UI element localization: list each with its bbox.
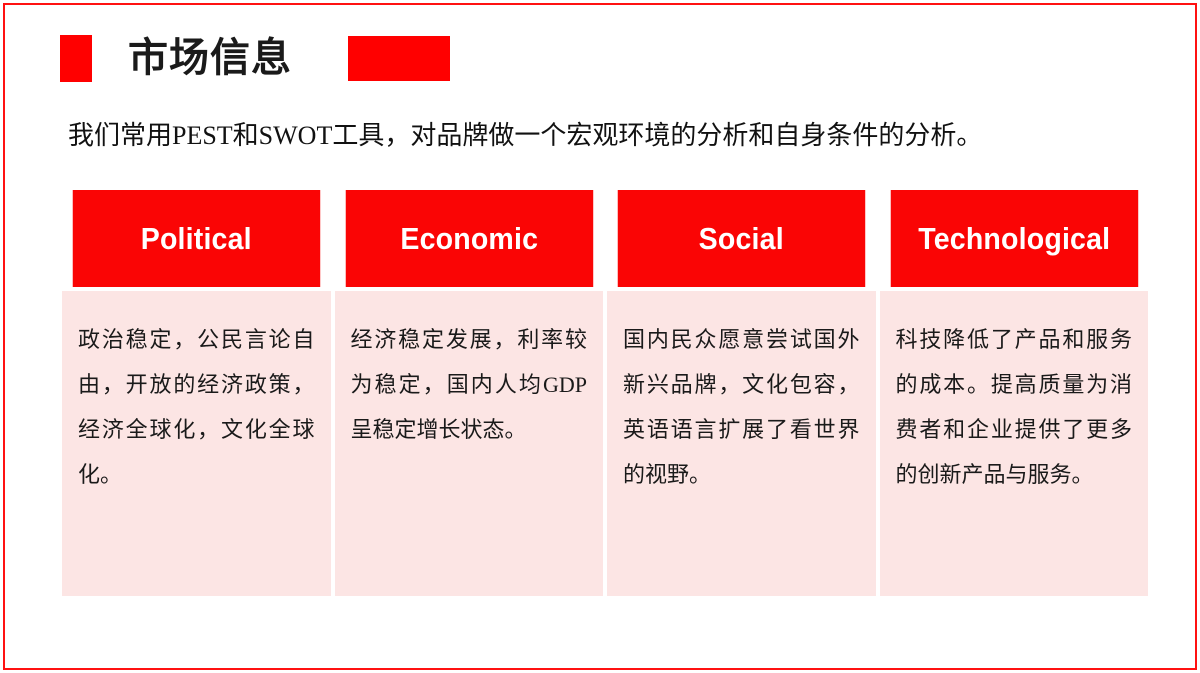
table-header-political: Political (73, 190, 320, 287)
table-cell-technological: 科技降低了产品和服务的成本。提高质量为消费者和企业提供了更多的创新产品与服务。 (880, 291, 1149, 596)
table-cell-social: 国内民众愿意尝试国外新兴品牌，文化包容，英语语言扩展了看世界的视野。 (607, 291, 876, 596)
page-title: 市场信息 (128, 38, 292, 78)
table-header-technological: Technological (890, 190, 1137, 287)
subtitle-text: 我们常用PEST和SWOT工具，对品牌做一个宏观环境的分析和自身条件的分析。 (68, 118, 1158, 153)
header-accent-block-icon (348, 36, 450, 81)
table-cell-political: 政治稳定，公民言论自由，开放的经济政策，经济全球化，文化全球化。 (62, 291, 331, 596)
table-cell-economic: 经济稳定发展，利率较为稳定，国内人均GDP呈稳定增长状态。 (335, 291, 604, 596)
table-header-row: Political Economic Social Technological (62, 190, 1148, 287)
pest-table: Political Economic Social Technological … (62, 190, 1148, 596)
table-header-economic: Economic (345, 190, 592, 287)
table-body-row: 政治稳定，公民言论自由，开放的经济政策，经济全球化，文化全球化。 经济稳定发展，… (62, 291, 1148, 596)
slide-canvas: 市场信息 我们常用PEST和SWOT工具，对品牌做一个宏观环境的分析和自身条件的… (0, 0, 1200, 673)
header-accent-bar-icon (60, 35, 92, 82)
slide-header: 市场信息 (60, 34, 292, 82)
table-header-social: Social (618, 190, 865, 287)
